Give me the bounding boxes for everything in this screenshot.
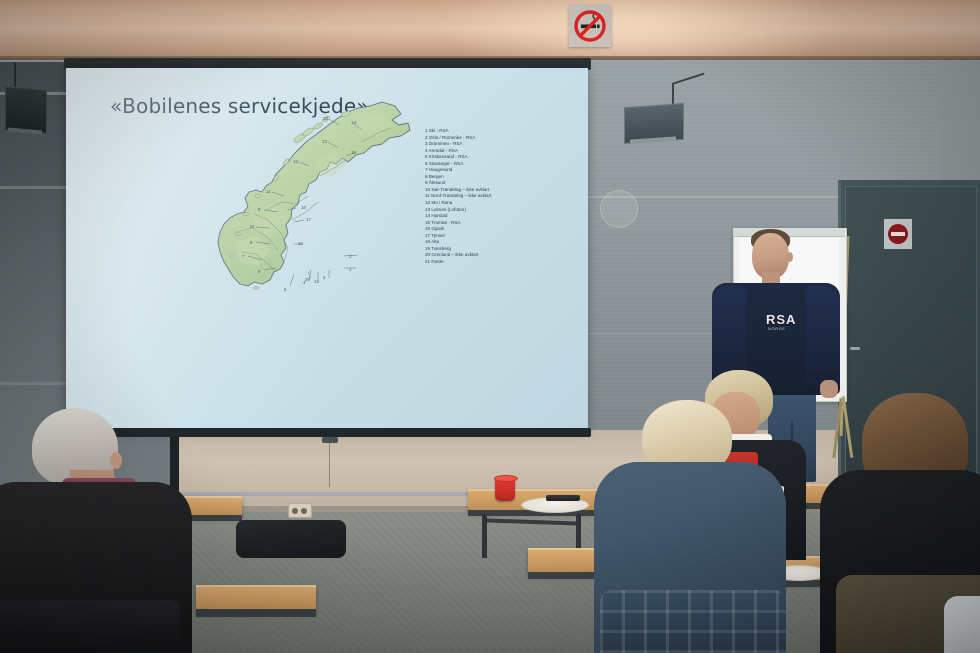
no-smoking-icon (573, 9, 607, 43)
screen-pull-cord[interactable] (329, 443, 330, 487)
sweatshirt-logo-sub: NORGE (768, 326, 800, 331)
presenter-ear (787, 252, 793, 262)
no-entry-sign (884, 219, 912, 249)
cup-rim (494, 475, 518, 482)
no-entry-bar (891, 232, 905, 236)
table-edge (196, 609, 316, 617)
table-leg (482, 514, 487, 558)
outlet-socket (292, 508, 298, 514)
mobile-phone (546, 495, 580, 501)
chair-seat (236, 520, 346, 558)
outlet-socket (301, 508, 307, 514)
speaker-cable (14, 62, 16, 90)
no-entry-icon (888, 224, 908, 244)
no-smoking-sign (569, 5, 611, 47)
presentation-room-photo: «Bobilenes servicekjede» (0, 0, 980, 653)
door-handle[interactable] (850, 347, 860, 350)
plaid-chair-back (600, 590, 786, 653)
attendee-ear (110, 452, 122, 469)
wall-power-outlet (288, 503, 312, 518)
wall-speaker-left (5, 86, 47, 134)
wall-clock (600, 190, 638, 228)
presenter-arm-left (712, 286, 746, 382)
sweatshirt-logo: RSA (766, 312, 800, 327)
attendee-sleeve (944, 596, 980, 653)
screen-pull-handle[interactable] (322, 437, 338, 443)
screen-glare (66, 68, 588, 430)
presenter-hand-right (820, 380, 838, 398)
chair-back (0, 600, 180, 653)
presenter-arm-right (806, 286, 840, 386)
screen-bottom-bar (64, 428, 591, 437)
